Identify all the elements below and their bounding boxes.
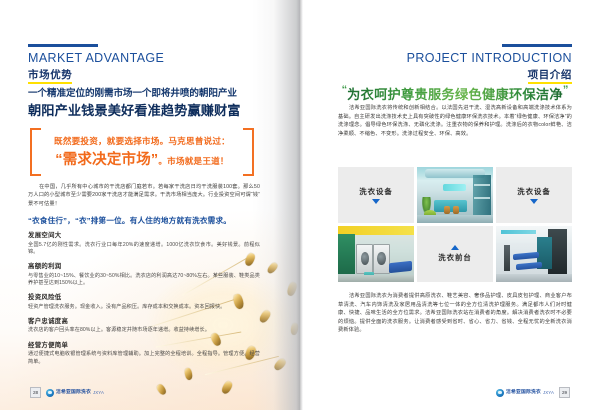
chevron-down-icon (372, 199, 380, 204)
headline-line-2: 朝阳产业钱景美好看准趋势赢赚财富 (28, 102, 260, 119)
green-slogan: “为衣呵护尊贵服务绿色健康环保洁净” (338, 84, 572, 104)
list-item: 投资风险低 轻资产管理洗衣服务。现金收入。没有产品积压。库存成本和交换成本。资本… (28, 293, 260, 311)
advantage-title: 发展空间大 (28, 231, 260, 240)
advantage-text: 与零售业的10~15%、餐饮业的30~50%相比。洗衣店的利润高达70~80%左… (28, 273, 260, 288)
chevron-up-icon (451, 245, 459, 250)
grid-photo-lobby (417, 167, 493, 223)
grid-label-cell: 洗衣前台 (417, 226, 493, 282)
project-introduction-header: PROJECT INTRODUCTION 项目介绍 (338, 44, 572, 84)
quote-emphasis: “需求决定市场” (55, 152, 158, 168)
chevron-down-icon (530, 199, 538, 204)
market-advantage-header: MARKET ADVANTAGE 市场优势 (28, 44, 164, 84)
grid-label-text: 洗衣前台 (438, 252, 472, 263)
section-cn-title: 项目介绍 (528, 69, 572, 81)
quote-tail: 。市场就是王道！ (158, 156, 228, 166)
page-number: 28 (30, 387, 41, 398)
grid-label-text: 洗衣设备 (359, 186, 393, 197)
brand-name-en: JXYA (93, 389, 104, 397)
brand-name-cn: 洁希亚国际洗衣 (56, 389, 91, 397)
page-number: 29 (559, 387, 570, 398)
section-cn-title: 市场优势 (28, 69, 72, 81)
list-item: 发展空间大 全国5.7亿的刚性需求。洗衣行业口每年20%的速度递增。1000亿洗… (28, 231, 260, 257)
grid-label-cell: 洗衣设备 (496, 167, 572, 223)
brand-logo: 洁希亚国际洗衣 JXYA (496, 389, 554, 397)
brand-name-cn: 洁希亚国际洗衣 (506, 389, 541, 397)
right-page-footer: 洁希亚国际洗衣 JXYA 29 (496, 387, 570, 398)
list-item: 客户忠诚度高 洗衣店的客户回头率在80%以上。客源稳定并随市场逐年递增。收益持续… (28, 317, 260, 335)
list-item: 经营方便简单 通过便捷式电脑收银管理系统与资料库管理辅助。加上完整的全程培训。全… (28, 341, 260, 367)
project-paragraph-top: 洁希亚国际洗衣将传统和创新相结合。以法国先进干洗、湿洗高新设备和高端洗涤技术体系… (338, 104, 572, 138)
quote-line-2: “需求决定市场”。市场就是王道！ (44, 148, 240, 169)
quote-close-mark: ” (563, 84, 569, 96)
highlight-statement: “衣食住行”，“衣”排第一位。有人住的地方就有洗衣需求。 (28, 215, 260, 226)
advantage-title: 经营方便简单 (28, 341, 260, 350)
brand-mark-icon (46, 389, 54, 397)
grid-photo-pressing (496, 226, 572, 282)
slogan-text: 为衣呵护尊贵服务绿色健康环保洁净 (347, 87, 563, 102)
marx-quote-box: 既然要投资，就要选择市场。马克思曾说过： “需求决定市场”。市场就是王道！ (30, 128, 254, 172)
left-page-footer: 28 洁希亚国际洗衣 JXYA (30, 387, 104, 398)
brand-mark-icon (496, 389, 504, 397)
list-item: 高额的利润 与零售业的10~15%、餐饮业的30~50%相比。洗衣店的利润高达7… (28, 262, 260, 288)
facility-image-grid: 洗衣设备 洗衣设备 (338, 167, 572, 282)
advantage-text: 通过便捷式电脑收银管理系统与资料库管理辅助。加上完整的全程培训。全程指导。管理方… (28, 351, 260, 366)
grid-photo-machines (338, 226, 414, 282)
advantage-text: 轻资产管理洗衣服务。现金收入。没有产品积压。库存成本和交换成本。资本回报快。 (28, 304, 260, 312)
brand-name-en: JXYA (543, 389, 554, 397)
advantage-title: 客户忠诚度高 (28, 317, 260, 326)
brochure-spread: MARKET ADVANTAGE 市场优势 一个精准定位的刚需市场一个即将井喷的… (0, 0, 600, 410)
left-page: MARKET ADVANTAGE 市场优势 一个精准定位的刚需市场一个即将井喷的… (0, 0, 300, 410)
market-paragraph: 在中国，几乎所有中心城市的干洗店都门庭若市。若每家干洗店日均干洗服装100套。那… (28, 183, 260, 208)
bracket-right-icon (243, 128, 254, 176)
advantage-text: 全国5.7亿的刚性需求。洗衣行业口每年20%的速度递增。1000亿洗衣饮食市。美… (28, 242, 260, 257)
quote-line-1: 既然要投资，就要选择市场。马克思曾说过： (44, 135, 240, 147)
right-page: PROJECT INTRODUCTION 项目介绍 “为衣呵护尊贵服务绿色健康环… (300, 0, 600, 410)
bracket-left-icon (30, 128, 41, 176)
section-en-title: PROJECT INTRODUCTION (338, 51, 572, 65)
advantage-text: 洗衣店的客户回头率在80%以上。客源稳定并随市场逐年递增。收益持续增长。 (28, 327, 260, 335)
advantage-title: 高额的利润 (28, 262, 260, 271)
section-en-title: MARKET ADVANTAGE (28, 51, 164, 65)
brand-logo: 洁希亚国际洗衣 JXYA (46, 389, 104, 397)
header-yellow-underline (28, 82, 72, 84)
project-paragraph-bottom: 洁希亚国际洗衣为消费者提供高原洗衣、鞋艺美容、奢侈品护理、皮具皮包护理、商业客户… (338, 292, 572, 335)
advantage-list: 发展空间大 全国5.7亿的刚性需求。洗衣行业口每年20%的速度递增。1000亿洗… (28, 231, 260, 372)
headline-line-1: 一个精准定位的刚需市场一个即将井喷的朝阳产业 (28, 88, 260, 100)
grid-label-cell: 洗衣设备 (338, 167, 414, 223)
header-accent-bar (502, 44, 572, 47)
page-headline: 一个精准定位的刚需市场一个即将井喷的朝阳产业 朝阳产业钱景美好看准趋势赢赚财富 (28, 88, 260, 119)
grid-label-text: 洗衣设备 (517, 186, 551, 197)
header-accent-bar (28, 44, 98, 47)
advantage-title: 投资风险低 (28, 293, 260, 302)
